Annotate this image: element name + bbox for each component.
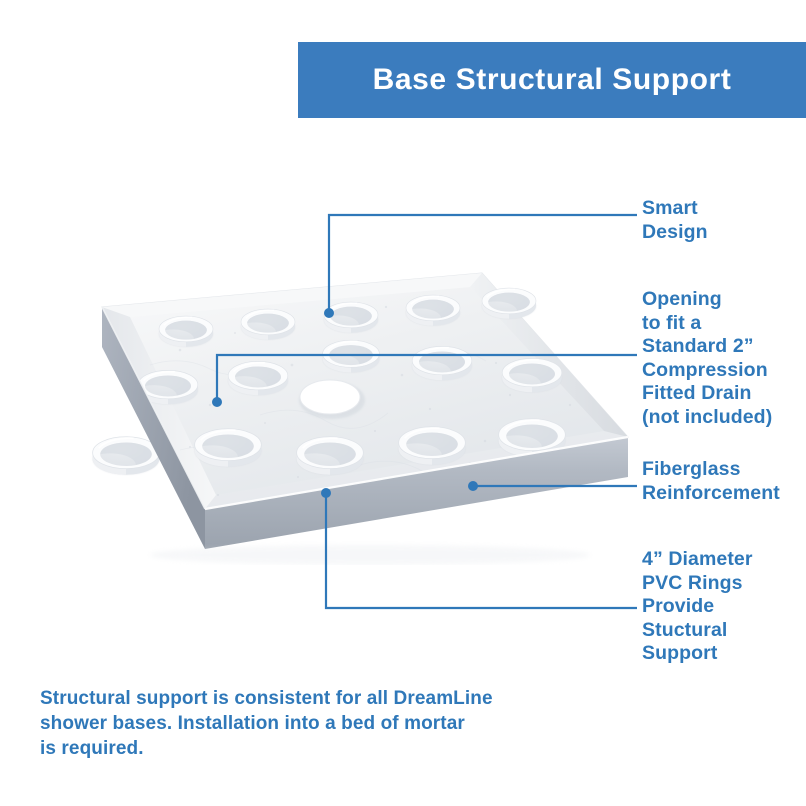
pvc-ring [195, 429, 262, 467]
pvc-ring [93, 437, 160, 475]
pvc-ring [228, 361, 288, 395]
pvc-ring [406, 295, 460, 326]
shower-base-illustration [30, 255, 650, 565]
pvc-ring-group-upper-center [323, 340, 380, 372]
header-banner: Base Structural Support [298, 42, 806, 118]
pvc-ring [412, 346, 472, 380]
pvc-ring [324, 302, 378, 333]
pvc-ring [241, 309, 295, 340]
callout-label-pvc-rings: 4” Diameter PVC Rings Provide Stuctural … [642, 548, 753, 666]
pvc-ring [323, 340, 380, 372]
pvc-ring [502, 358, 562, 392]
page-title: Base Structural Support [373, 65, 732, 95]
callout-label-drain-opening: Opening to fit a Standard 2” Compression… [642, 288, 772, 429]
base-ground-shadow [150, 545, 590, 565]
callout-label-smart-design: Smart Design [642, 197, 708, 244]
infographic-canvas: Base Structural Support [0, 0, 806, 806]
footer-caption: Structural support is consistent for all… [40, 686, 560, 761]
pvc-ring [399, 427, 466, 465]
shower-base-icon [30, 255, 650, 565]
pvc-ring [297, 437, 364, 475]
pvc-ring [159, 316, 213, 347]
callout-label-fiberglass: Fiberglass Reinforcement [642, 458, 780, 505]
pvc-ring [482, 288, 536, 319]
